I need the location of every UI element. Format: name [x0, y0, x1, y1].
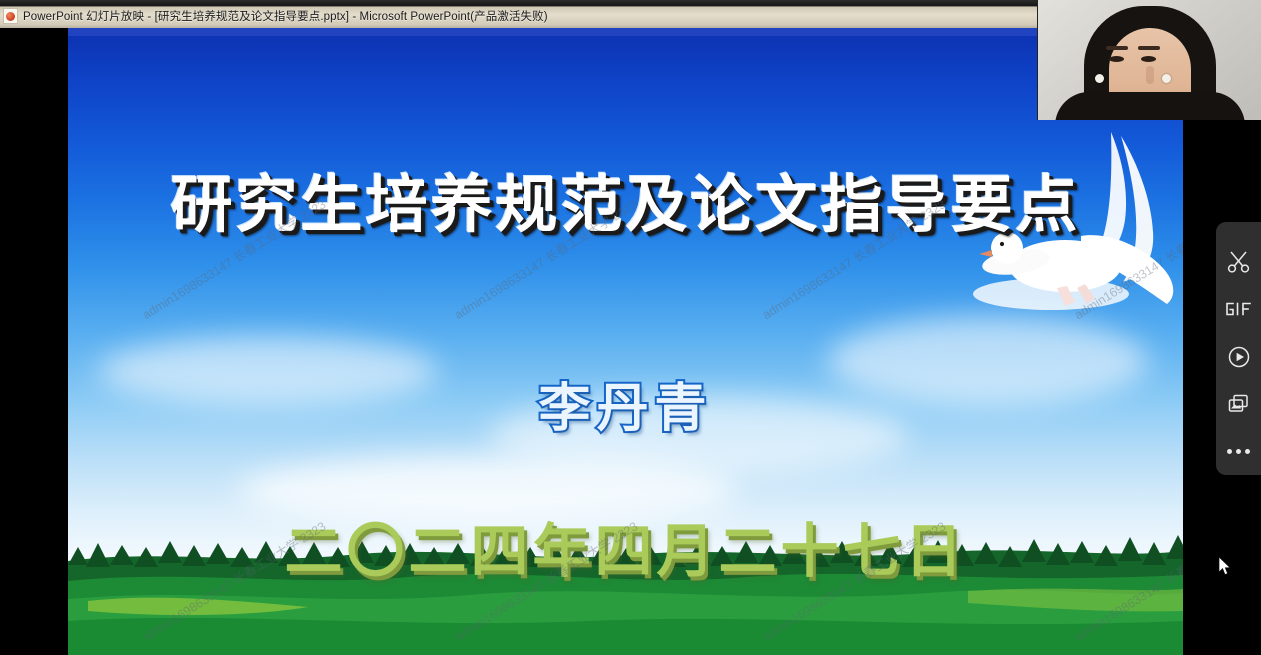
slide-presenter-name: 李丹青 [68, 366, 1183, 441]
presenter-eye-left [1109, 56, 1124, 62]
presenter-shoulders [1055, 92, 1245, 120]
gif-icon[interactable]: gif-icon [1216, 285, 1261, 332]
presenter-nose [1146, 66, 1154, 84]
mouse-cursor [1218, 556, 1232, 576]
powerpoint-icon [3, 8, 18, 24]
more-icon[interactable] [1216, 428, 1261, 475]
screenshot-icon[interactable] [1216, 380, 1261, 427]
presenter-eyebrow-left [1106, 46, 1128, 50]
presenter-webcam-overlay[interactable] [1037, 0, 1261, 120]
scissors-icon[interactable] [1216, 238, 1261, 285]
window-accent-band-left-mask [0, 28, 68, 36]
presenter-earring-right [1162, 74, 1171, 83]
screen: PowerPoint 幻灯片放映 - [研究生培养规范及论文指导要点.pptx]… [0, 0, 1261, 655]
presenter-eyebrow-right [1138, 46, 1160, 50]
presenter-earring-left [1095, 74, 1104, 83]
record-icon[interactable] [1216, 333, 1261, 380]
slide-title: 研究生培养规范及论文指导要点 [68, 154, 1183, 244]
recording-toolbar[interactable]: gif-icon [1216, 222, 1261, 475]
window-title: PowerPoint 幻灯片放映 - [研究生培养规范及论文指导要点.pptx]… [23, 8, 548, 24]
presenter-eye-right [1141, 56, 1156, 62]
slide-canvas[interactable]: 研究生培养规范及论文指导要点 李丹青 二〇二四年四月二十七日 admin1698… [68, 36, 1183, 655]
slide-date: 二〇二四年四月二十七日 [68, 504, 1183, 588]
window-titlebar[interactable]: PowerPoint 幻灯片放映 - [研究生培养规范及论文指导要点.pptx]… [0, 0, 1045, 28]
